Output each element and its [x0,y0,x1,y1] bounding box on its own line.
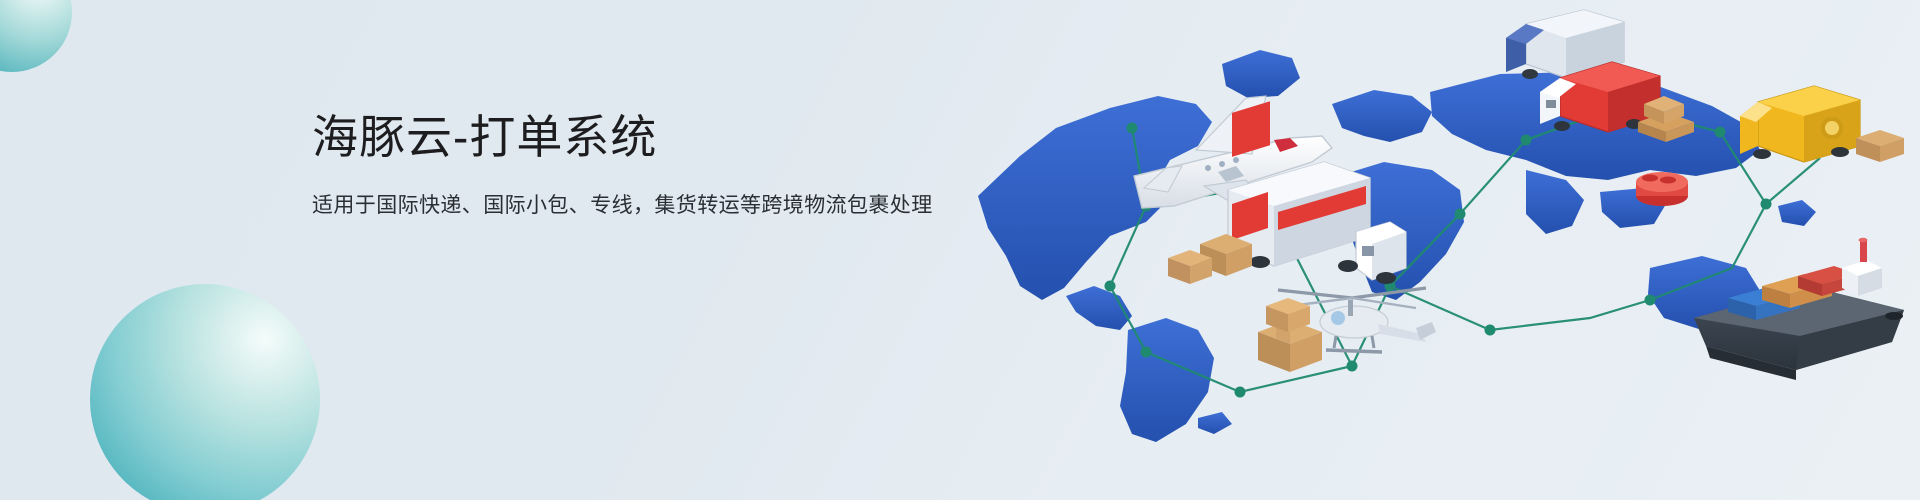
page-title: 海豚云-打单系统 [312,110,1032,164]
cardboard-parcel-stack [1258,298,1322,372]
banner-copy: 海豚云-打单系统 适用于国际快递、国际小包、专线，集货转运等跨境物流包裹处理 [312,110,1032,222]
yellow-delivery-van [1740,86,1904,162]
page-subtitle: 适用于国际快递、国际小包、专线，集货转运等跨境物流包裹处理 [312,190,1032,222]
decorative-sphere-top-left [0,0,72,72]
red-barrel-stack [1636,172,1688,206]
decorative-sphere-bottom-left [90,284,320,500]
isometric-world-logistics-illustration [960,0,1920,500]
hero-banner: 海豚云-打单系统 适用于国际快递、国际小包、专线，集货转运等跨境物流包裹处理 [0,0,1920,500]
